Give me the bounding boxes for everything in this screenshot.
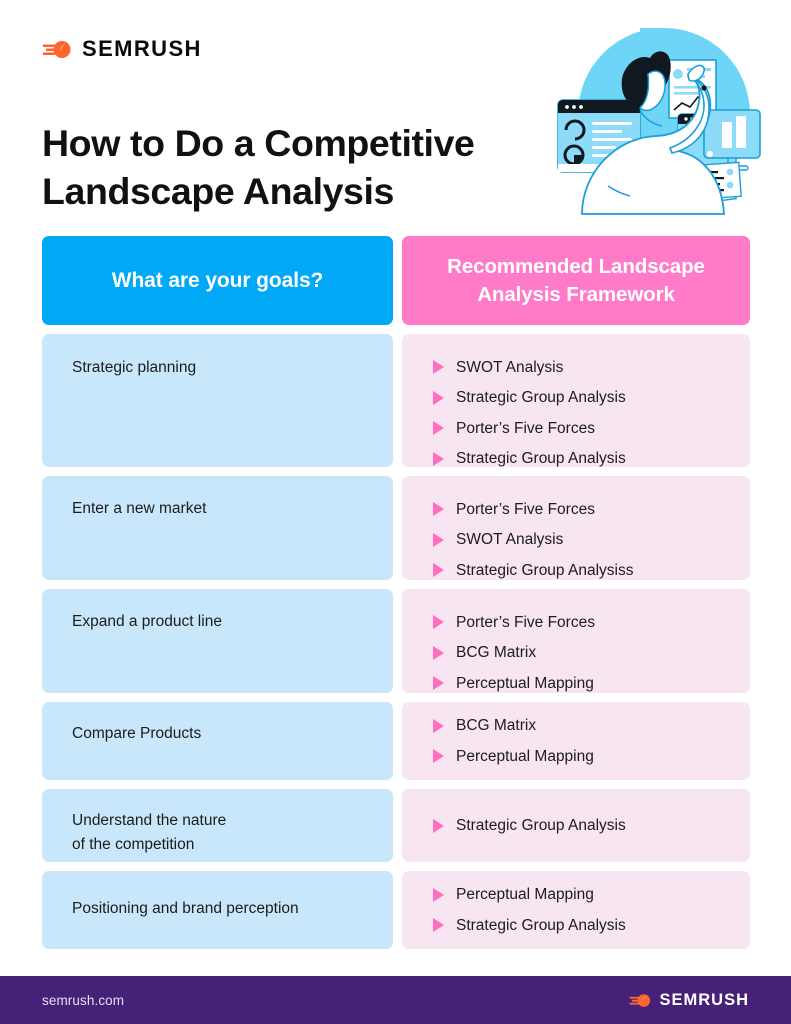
- brand-logo: SEMRUSH: [42, 38, 202, 60]
- framework-item: Strategic Group Analysis: [433, 810, 750, 841]
- triangle-bullet-icon: [433, 749, 444, 763]
- column-header-goals: What are your goals?: [42, 236, 393, 325]
- triangle-bullet-icon: [433, 533, 444, 547]
- triangle-bullet-icon: [433, 676, 444, 690]
- framework-cell: Perceptual Mapping Strategic Group Analy…: [402, 871, 750, 949]
- triangle-bullet-icon: [433, 719, 444, 733]
- triangle-bullet-icon: [433, 360, 444, 374]
- framework-item: Strategic Group Analysiss: [433, 555, 750, 586]
- goal-cell: Understand the nature of the competition: [42, 789, 393, 862]
- framework-label: Perceptual Mapping: [456, 887, 594, 903]
- table-row: Understand the nature of the competition…: [42, 789, 750, 862]
- framework-label: Porter’s Five Forces: [456, 615, 595, 631]
- framework-label: Perceptual Mapping: [456, 676, 594, 692]
- framework-label: Strategic Group Analysis: [456, 918, 626, 934]
- framework-label: SWOT Analysis: [456, 360, 563, 376]
- framework-item: SWOT Analysis: [433, 352, 750, 383]
- goal-label: Understand the nature: [72, 809, 393, 833]
- goal-label: Compare Products: [72, 722, 393, 746]
- page-title: How to Do a Competitive Landscape Analys…: [42, 119, 562, 215]
- framework-item: Strategic Group Analysis: [433, 383, 750, 414]
- column-header-framework-line-2: Analysis Framework: [447, 281, 705, 308]
- semrush-comet-icon: [42, 38, 73, 60]
- framework-label: Strategic Group Analysis: [456, 451, 626, 467]
- framework-table: What are your goals? Recommended Landsca…: [42, 236, 750, 949]
- table-row: Enter a new market Porter’s Five Forces …: [42, 476, 750, 580]
- framework-item: Porter’s Five Forces: [433, 494, 750, 525]
- triangle-bullet-icon: [433, 819, 444, 833]
- footer-brand-logo: SEMRUSH: [629, 992, 749, 1009]
- triangle-bullet-icon: [433, 452, 444, 466]
- triangle-bullet-icon: [433, 888, 444, 902]
- framework-label: SWOT Analysis: [456, 532, 563, 548]
- table-row: Expand a product line Porter’s Five Forc…: [42, 589, 750, 693]
- goal-cell: Positioning and brand perception: [42, 871, 393, 949]
- page-title-line-1: How to Do a Competitive: [42, 119, 562, 167]
- framework-item: Porter’s Five Forces: [433, 607, 750, 638]
- framework-item: BCG Matrix: [433, 711, 750, 742]
- framework-label: Strategic Group Analysiss: [456, 563, 633, 579]
- table-row: Positioning and brand perception Percept…: [42, 871, 750, 949]
- column-header-framework-line-1: Recommended Landscape: [447, 253, 705, 280]
- framework-label: Porter’s Five Forces: [456, 421, 595, 437]
- column-header-framework: Recommended Landscape Analysis Framework: [402, 236, 750, 325]
- hero-illustration: [552, 18, 768, 230]
- framework-item: SWOT Analysis: [433, 525, 750, 556]
- framework-label: Porter’s Five Forces: [456, 502, 595, 518]
- goal-cell: Enter a new market: [42, 476, 393, 580]
- framework-cell: SWOT Analysis Strategic Group Analysis P…: [402, 334, 750, 467]
- framework-cell: BCG Matrix Perceptual Mapping: [402, 702, 750, 780]
- framework-label: BCG Matrix: [456, 718, 536, 734]
- triangle-bullet-icon: [433, 918, 444, 932]
- framework-cell: Porter’s Five Forces BCG Matrix Perceptu…: [402, 589, 750, 693]
- framework-label: BCG Matrix: [456, 645, 536, 661]
- triangle-bullet-icon: [433, 391, 444, 405]
- goal-label: Expand a product line: [72, 610, 393, 634]
- framework-cell: Strategic Group Analysis: [402, 789, 750, 862]
- framework-label: Strategic Group Analysis: [456, 390, 626, 406]
- infographic-page: SEMRUSH How to Do a Competitive Landscap…: [0, 0, 791, 1024]
- footer-website-link[interactable]: semrush.com: [42, 993, 124, 1008]
- framework-item: Perceptual Mapping: [433, 880, 750, 911]
- framework-item: BCG Matrix: [433, 638, 750, 669]
- framework-label: Strategic Group Analysis: [456, 818, 626, 834]
- footer-brand-wordmark: SEMRUSH: [659, 992, 749, 1009]
- brand-wordmark: SEMRUSH: [82, 38, 202, 60]
- goal-cell: Expand a product line: [42, 589, 393, 693]
- page-title-line-2: Landscape Analysis: [42, 167, 562, 215]
- framework-cell: Porter’s Five Forces SWOT Analysis Strat…: [402, 476, 750, 580]
- goal-label: Strategic planning: [72, 356, 393, 380]
- triangle-bullet-icon: [433, 502, 444, 516]
- goal-cell: Compare Products: [42, 702, 393, 780]
- framework-item: Porter’s Five Forces: [433, 413, 750, 444]
- table-header-row: What are your goals? Recommended Landsca…: [42, 236, 750, 325]
- framework-item: Strategic Group Analysis: [433, 910, 750, 941]
- framework-item: Perceptual Mapping: [433, 741, 750, 772]
- framework-item: Strategic Group Analysis: [433, 444, 750, 475]
- semrush-comet-icon: [629, 992, 652, 1009]
- framework-item: Perceptual Mapping: [433, 668, 750, 699]
- triangle-bullet-icon: [433, 615, 444, 629]
- goal-label-line-2: of the competition: [72, 833, 393, 857]
- page-footer: semrush.com SEMRUSH: [0, 976, 791, 1024]
- goal-cell: Strategic planning: [42, 334, 393, 467]
- table-row: Strategic planning SWOT Analysis Strateg…: [42, 334, 750, 467]
- triangle-bullet-icon: [433, 421, 444, 435]
- triangle-bullet-icon: [433, 563, 444, 577]
- table-row: Compare Products BCG Matrix Perceptual M…: [42, 702, 750, 780]
- triangle-bullet-icon: [433, 646, 444, 660]
- goal-label: Positioning and brand perception: [72, 897, 393, 921]
- goal-label: Enter a new market: [72, 497, 393, 521]
- framework-label: Perceptual Mapping: [456, 749, 594, 765]
